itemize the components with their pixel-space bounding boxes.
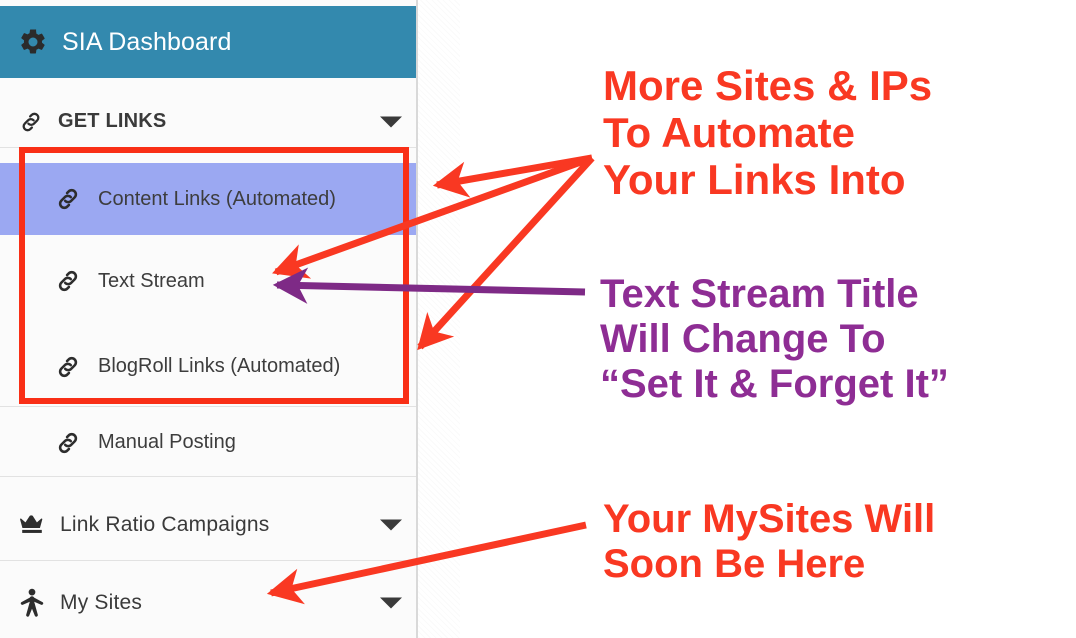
sidebar-item-label: BlogRoll Links (Automated) (98, 355, 340, 378)
chevron-down-icon[interactable] (380, 116, 402, 127)
sidebar-item-label: Manual Posting (98, 431, 236, 454)
screenshot-root: SIA Dashboard GET LINKS (0, 0, 1076, 638)
sidebar-group-label: GET LINKS (58, 110, 166, 133)
sidebar-group-my-sites[interactable]: My Sites (0, 568, 416, 638)
sidebar-item-label: Text Stream (98, 270, 205, 293)
sidebar-item-content-links[interactable]: Content Links (Automated) (0, 163, 416, 235)
chevron-down-icon[interactable] (380, 519, 402, 530)
sidebar-item-blogroll-links[interactable]: BlogRoll Links (Automated) (0, 327, 416, 407)
sidebar-group-link-ratio-campaigns[interactable]: Link Ratio Campaigns (0, 489, 416, 561)
link-chain-icon (54, 185, 82, 213)
sidebar-item-manual-posting[interactable]: Manual Posting (0, 409, 416, 477)
sidebar-group-label: My Sites (60, 591, 142, 615)
sidebar-item-text-stream[interactable]: Text Stream (0, 245, 416, 317)
link-chain-icon (54, 267, 82, 295)
app-title: SIA Dashboard (62, 28, 231, 57)
sidebar: SIA Dashboard GET LINKS (0, 0, 418, 638)
annotation-my-sites-soon: Your MySites Will Soon Be Here (603, 497, 935, 587)
sidebar-header[interactable]: SIA Dashboard (0, 6, 416, 78)
sidebar-item-label: Content Links (Automated) (98, 188, 336, 211)
link-chain-icon (54, 429, 82, 457)
sidebar-group-get-links[interactable]: GET LINKS (0, 96, 416, 148)
arrow-to-content-links (437, 158, 592, 185)
annotation-text-stream-title: Text Stream Title Will Change To “Set It… (600, 272, 949, 406)
gear-icon (18, 27, 48, 57)
annotation-more-sites-ips: More Sites & IPs To Automate Your Links … (603, 62, 932, 203)
crown-icon (18, 511, 46, 539)
chevron-down-icon[interactable] (380, 598, 402, 609)
link-chain-icon (18, 109, 44, 135)
link-chain-icon (54, 353, 82, 381)
arrow-to-blogroll-links (420, 158, 592, 347)
person-icon (18, 588, 46, 618)
sidebar-group-label: Link Ratio Campaigns (60, 513, 269, 537)
